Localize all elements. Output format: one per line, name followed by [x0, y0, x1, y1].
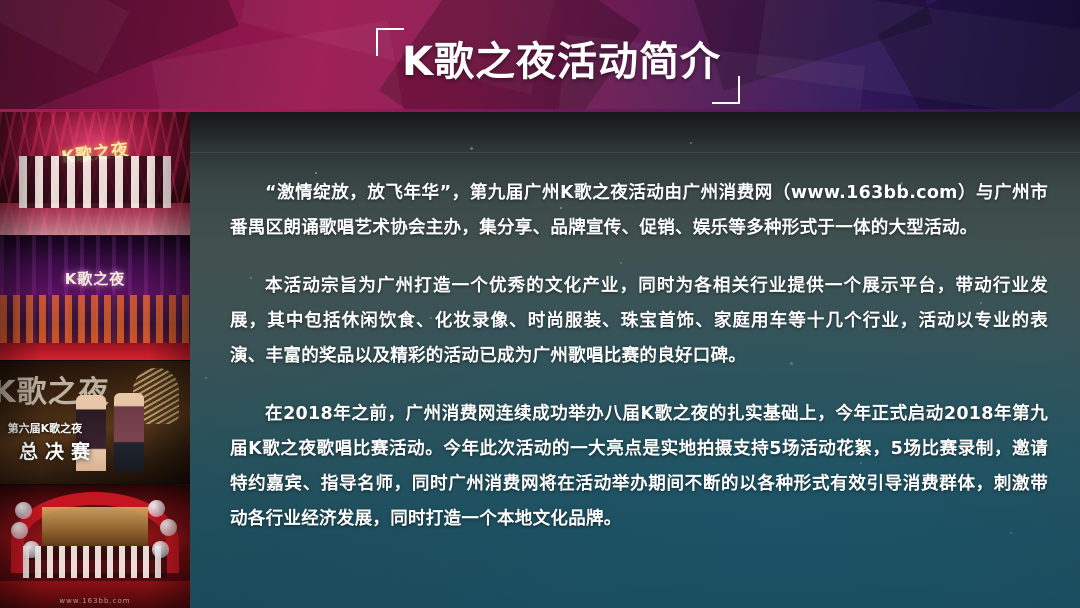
corner-bracket-top-left-icon: [376, 28, 404, 56]
hosts-photo: K歌之夜 第六届K歌之夜 总决赛: [0, 361, 190, 485]
corner-bracket-bottom-right-icon: [712, 76, 740, 104]
paragraph-1: “激情绽放，放飞年华”，第九届广州K歌之夜活动由广州消费网（www.163bb.…: [230, 176, 1048, 246]
photo-vignette: [0, 485, 190, 608]
paragraph-3: 在2018年之前，广州消费网连续成功举办八届K歌之夜的扎实基础上，今年正式启动2…: [230, 397, 1048, 537]
large-group-photo: K歌之夜: [0, 236, 190, 360]
photo-vignette: [0, 112, 190, 235]
paragraph-2: 本活动宗旨为广州打造一个优秀的文化产业，同时为各相关行业提供一个展示平台，带动行…: [230, 269, 1048, 374]
photo-vignette: [0, 236, 190, 359]
page-title: K歌之夜活动简介: [402, 42, 721, 82]
presentation-slide: K歌之夜活动简介 K歌之夜: [0, 0, 1080, 608]
stage-group-photo: K歌之夜: [0, 112, 190, 236]
title-block: K歌之夜活动简介: [372, 20, 764, 104]
content-body: “激情绽放，放飞年华”，第九届广州K歌之夜活动由广州消费网（www.163bb.…: [230, 176, 1048, 537]
photo-strip: K歌之夜 K歌之夜 K歌之夜 第六届K歌之夜 总决赛: [0, 112, 190, 608]
slide-header: K歌之夜活动简介: [0, 0, 1080, 112]
photo-vignette: [0, 361, 190, 484]
red-arch-stage-photo: www.163bb.com: [0, 485, 190, 608]
body-hairline: [190, 152, 1080, 153]
